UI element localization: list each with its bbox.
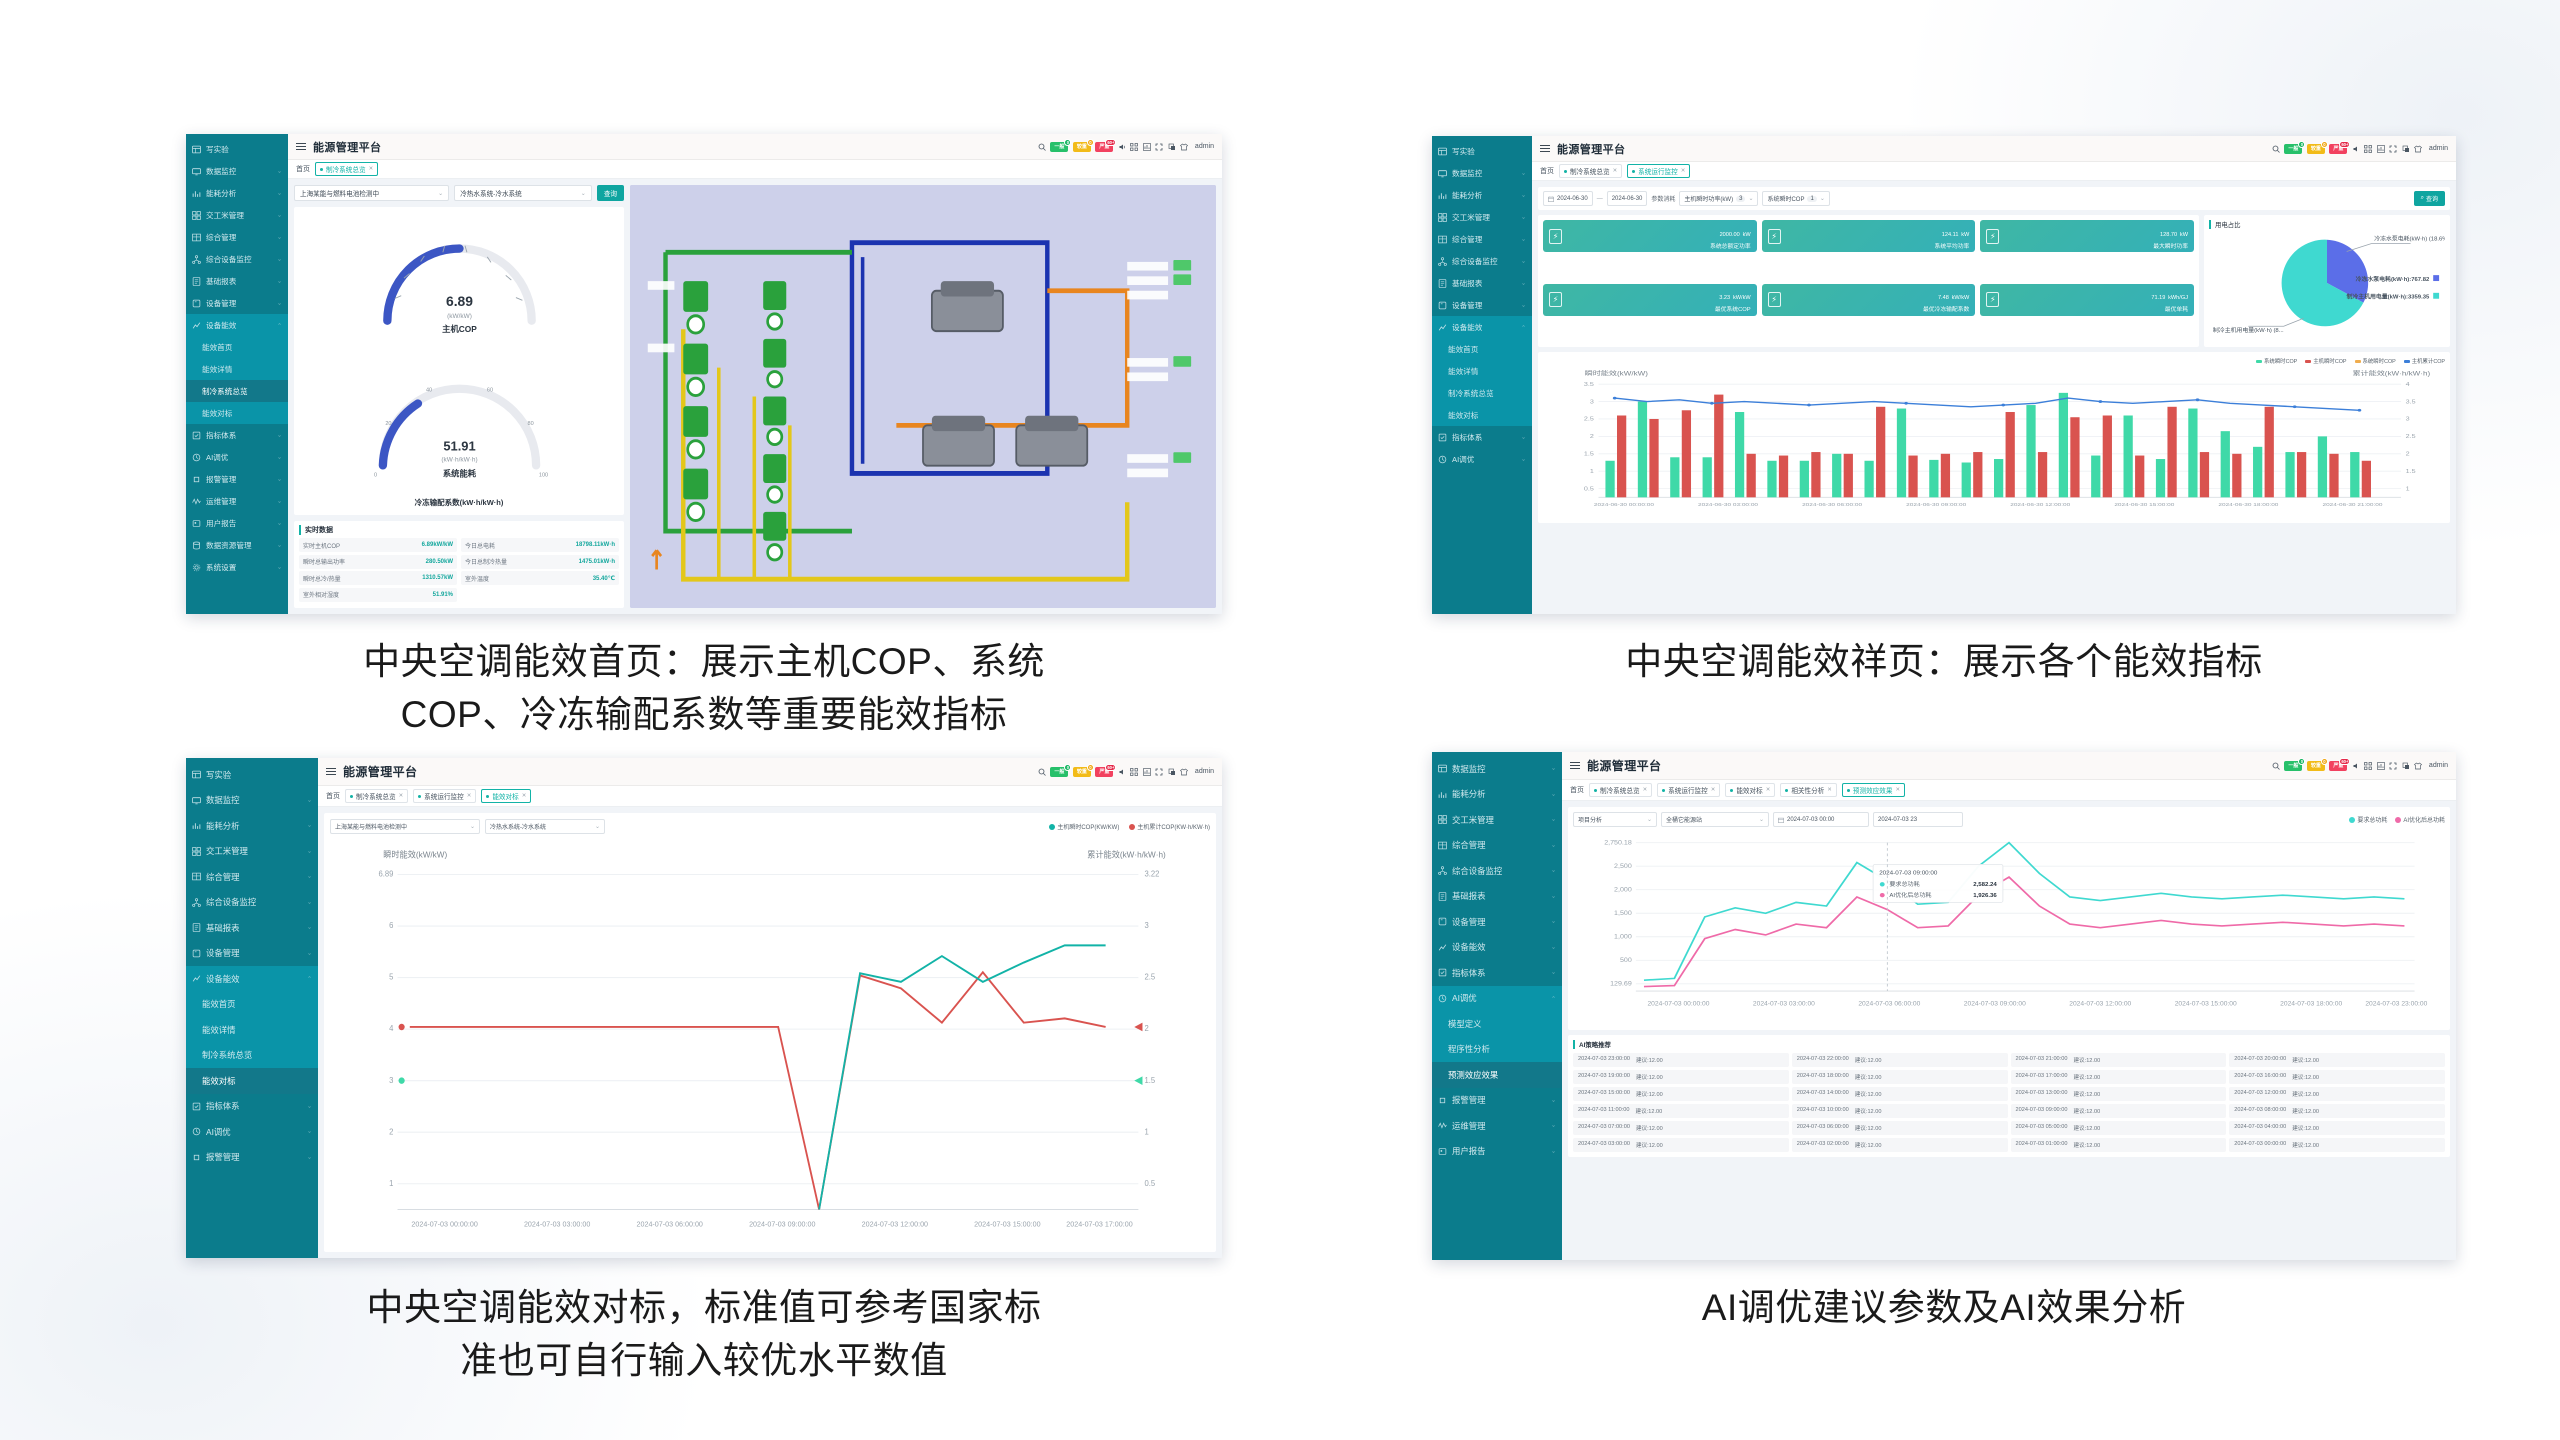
- legend-item[interactable]: 主机瞬时COP(KW/KW): [1049, 822, 1119, 831]
- date-to-input[interactable]: 2024-06-30: [1607, 191, 1648, 206]
- sidebar-item-data-resource[interactable]: 数据资源管理 ⌄: [186, 534, 288, 556]
- screenshot-panel-1: 写实验 数据监控 ⌄ 能耗分析 ⌄ 交工米管理 ⌄ 综合管理 ⌄: [186, 134, 1222, 614]
- list-item[interactable]: 2024-07-03 20:00:00建议:12.00: [2229, 1053, 2445, 1067]
- badge-medium[interactable]: 较重0: [1073, 142, 1091, 152]
- date-to-value: 2024-07-03 23: [1878, 817, 1917, 823]
- tab-benchmark[interactable]: 能效对标✕: [1725, 783, 1775, 797]
- calendar-icon: [1778, 817, 1784, 823]
- close-icon[interactable]: ✕: [1895, 787, 1900, 793]
- query-button[interactable]: ⌕查询: [2414, 191, 2445, 206]
- legend-item[interactable]: 主机累计COP: [2404, 357, 2445, 365]
- grid-icon[interactable]: [2364, 762, 2372, 770]
- list-item[interactable]: 2024-07-03 23:00:00建议:12.00: [1573, 1053, 1789, 1067]
- grid-icon[interactable]: [2364, 145, 2372, 153]
- data-cell: 今日总电耗18798.11kW·h: [461, 538, 619, 552]
- sidebar-item-comprehensive[interactable]: 综合管理⌄: [186, 864, 318, 890]
- chevron-down-icon: ⌄: [1551, 1149, 1556, 1154]
- kpi-grid-panel-2: ⚡2000.00 kW系统总额定功率 ⚡124.11 kW系统平均功率 ⚡128…: [1538, 215, 2199, 347]
- sidebar-item-device-energy[interactable]: 设备能效⌃: [186, 966, 318, 992]
- sidebar-item-label: 运维管理: [206, 496, 272, 507]
- cell-suggest: 建议:12.00: [2073, 1141, 2100, 1149]
- sidebar-item-comprehensive[interactable]: 综合管理⌄: [1432, 228, 1532, 250]
- badge-severe[interactable]: 严重60+: [2329, 144, 2347, 154]
- tab-label: 制冷系统总览: [356, 791, 396, 801]
- schematic-svg: [630, 185, 1216, 608]
- search-icon[interactable]: [1038, 143, 1046, 151]
- legend-item[interactable]: 主机累计COP(KW·h/KW·h): [1129, 822, 1210, 831]
- date-from-input[interactable]: 2024-06-30: [1543, 191, 1593, 206]
- y-axis-labels: 2,750.182,5002,000 1,5001,000500129.69: [1604, 840, 1632, 988]
- chevron-down-icon: ⌄: [1521, 215, 1526, 220]
- list-item[interactable]: 2024-07-03 13:00:00建议:12.00: [2011, 1087, 2227, 1101]
- kpi-card: ⚡124.11 kW系统平均功率: [1762, 220, 1976, 252]
- energy-icon: [1438, 943, 1447, 952]
- chevron-down-icon: ⌄: [1521, 281, 1526, 286]
- bar-chart-svg: 瞬时能效(kW/kW) 累计能效(kW·h/kW·h) 3.532.5 21.5…: [1543, 365, 2445, 513]
- list-item[interactable]: 2024-07-03 19:00:00建议:12.00: [1573, 1070, 1789, 1084]
- badge-count: 0: [2298, 758, 2305, 765]
- close-icon[interactable]: ✕: [467, 793, 472, 799]
- breadcrumb-home[interactable]: 首页: [296, 164, 310, 174]
- x-axis-labels: 2024-06-30 00:00:00 2024-06-30 03:00:00 …: [1594, 503, 2383, 508]
- svg-text:3: 3: [1145, 921, 1150, 930]
- sidebar-subitem-energy-detail[interactable]: 能效详情: [186, 1017, 318, 1043]
- user-name[interactable]: admin: [1195, 768, 1214, 775]
- chart-icon[interactable]: [2377, 762, 2385, 770]
- sound-icon[interactable]: [2352, 762, 2360, 770]
- kpi-value: 7.48 kW/kW: [1938, 291, 1969, 302]
- legend-item[interactable]: AI优化后总功耗: [2395, 815, 2445, 824]
- wave-icon: [1438, 1121, 1447, 1130]
- badge-normal[interactable]: 一般0: [2284, 761, 2302, 771]
- sidebar-subitem-program-analysis[interactable]: 程序性分析: [1432, 1037, 1562, 1063]
- sidebar-item-user-report[interactable]: 用户报告⌄: [1432, 1139, 1562, 1165]
- sidebar-item-alarm[interactable]: 报警管理 ⌄: [186, 468, 288, 490]
- sidebar-item-indicator[interactable]: 指标体系⌄: [1432, 426, 1532, 448]
- cell-time: 2024-07-03 09:00:00: [2016, 1107, 2068, 1115]
- cell-suggest: 建议:12.00: [2073, 1056, 2100, 1064]
- slide-root: 写实验 数据监控 ⌄ 能耗分析 ⌄ 交工米管理 ⌄ 综合管理 ⌄: [0, 0, 2560, 1440]
- menu-toggle-icon[interactable]: [1540, 145, 1550, 153]
- sidebar-item-energy-analysis[interactable]: 能耗分析⌄: [186, 813, 318, 839]
- list-item[interactable]: 2024-07-03 04:00:00建议:12.00: [2229, 1121, 2445, 1135]
- sidebar-subitem-energy-home[interactable]: 能效首页: [186, 336, 288, 358]
- search-icon[interactable]: [2272, 145, 2280, 153]
- sidebar-item-label: 数据监控: [1452, 763, 1546, 775]
- caption-panel-4: AI调优建议参数及AI效果分析: [1432, 1282, 2456, 1335]
- sidebar-item-label: 设备能效: [206, 320, 272, 331]
- sidebar-subitem-label: 能效详情: [1448, 366, 1526, 377]
- sidebar-item-indicator[interactable]: 指标体系 ⌄: [186, 424, 288, 446]
- badge-count: 0: [2321, 141, 2328, 148]
- svg-text:1,500: 1,500: [1614, 910, 1632, 917]
- theme-icon[interactable]: [2414, 762, 2422, 770]
- metric-select-1[interactable]: 主机瞬时功率(kW)3⌄: [1679, 191, 1758, 206]
- sidebar-item-ai-tuning[interactable]: AI调优 ⌄: [186, 446, 288, 468]
- list-item[interactable]: 2024-07-03 05:00:00建议:12.00: [2011, 1121, 2227, 1135]
- theme-icon[interactable]: [1180, 768, 1188, 776]
- cell-suggest: 建议:12.00: [1636, 1107, 1663, 1115]
- sidebar-item-label: 写实验: [206, 144, 282, 155]
- energy-icon: ⚡: [1549, 229, 1562, 244]
- energy-icon: ⚡: [1549, 292, 1562, 307]
- sidebar-subitem-model-definition[interactable]: 模型定义: [1432, 1011, 1562, 1037]
- chevron-down-icon: ⌄: [1551, 894, 1556, 899]
- chevron-down-icon: ⌄: [307, 1155, 312, 1160]
- bar-chart-icon: [1438, 790, 1447, 799]
- svg-text:1.5: 1.5: [1145, 1076, 1156, 1085]
- sidebar-item-device-energy[interactable]: 设备能效⌄: [1432, 935, 1562, 961]
- badge-normal[interactable]: 一般0: [1050, 142, 1068, 152]
- badge-count: 60+: [1105, 764, 1116, 771]
- sidebar-item-device-energy[interactable]: 设备能效⌃: [1432, 316, 1532, 338]
- sidebar-item-device-monitor[interactable]: 综合设备监控⌄: [1432, 858, 1562, 884]
- legend-item[interactable]: 系统瞬时COP: [2355, 357, 2396, 365]
- tab-correlation[interactable]: 相关性分析✕: [1780, 783, 1837, 797]
- copy-icon[interactable]: [2402, 762, 2410, 770]
- sidebar-item-device-energy[interactable]: 设备能效 ⌃: [186, 314, 288, 336]
- date-to-input[interactable]: 2024-07-03 23: [1873, 812, 1963, 827]
- list-item[interactable]: 2024-07-03 14:00:00建议:12.00: [1792, 1087, 2008, 1101]
- sidebar-item-label: 能耗分析: [1452, 190, 1516, 201]
- theme-icon[interactable]: [2414, 145, 2422, 153]
- chart-icon[interactable]: [1143, 768, 1151, 776]
- sidebar-item-settings[interactable]: 系统设置 ⌄: [186, 556, 288, 578]
- svg-text:2024-07-03 12:00:00: 2024-07-03 12:00:00: [862, 1220, 928, 1229]
- breadcrumb-home[interactable]: 首页: [1540, 166, 1554, 176]
- chart-icon[interactable]: [2377, 145, 2385, 153]
- sidebar-item-reports[interactable]: 基础报表 ⌄: [186, 270, 288, 292]
- x-axis-labels: 2024-07-03 00:00:00 2024-07-03 03:00:00 …: [411, 1220, 1132, 1229]
- sidebar-subitem-energy-home[interactable]: 能效首页: [186, 992, 318, 1018]
- sidebar-item-label: 综合管理: [206, 232, 272, 243]
- sidebar-item-device-manage[interactable]: 设备管理⌄: [1432, 909, 1562, 935]
- site-select[interactable]: 上海某能与燃料电池检测中⌄: [330, 819, 480, 834]
- grid-icon[interactable]: [1130, 143, 1138, 151]
- sidebar-subitem-prediction-effect[interactable]: 预测效应效果: [1432, 1062, 1562, 1088]
- sidebar-item-energy-analysis[interactable]: 能耗分析⌄: [1432, 782, 1562, 808]
- content-panel-2: 2024-06-30 — 2024-06-30 参数消耗 主机瞬时功率(kW)3…: [1532, 181, 2456, 614]
- chevron-down-icon: ⌄: [1551, 919, 1556, 924]
- app-title: 能源管理平台: [343, 763, 417, 780]
- close-icon[interactable]: ✕: [1681, 168, 1686, 174]
- search-icon[interactable]: [1038, 768, 1046, 776]
- svg-text:2024-06-30 12:00:00: 2024-06-30 12:00:00: [2010, 503, 2070, 508]
- cell-time: 2024-07-03 22:00:00: [1797, 1056, 1849, 1064]
- table-icon: [1438, 235, 1447, 244]
- kpi-card: ⚡3.23 kW/kW最优系统COP: [1543, 284, 1757, 316]
- menu-toggle-icon[interactable]: [296, 143, 306, 151]
- cell-suggest: 建议:12.00: [1855, 1124, 1882, 1132]
- chevron-down-icon: ⌄: [277, 433, 282, 438]
- sidebar-item-alarm[interactable]: 报警管理⌄: [186, 1145, 318, 1171]
- sidebar-item-label: 交工米管理: [1452, 212, 1516, 223]
- check-icon: [192, 431, 201, 440]
- list-item[interactable]: 2024-07-03 06:00:00建议:12.00: [1792, 1121, 2008, 1135]
- grid-icon[interactable]: [1130, 768, 1138, 776]
- legend-item[interactable]: 要求总功耗: [2349, 815, 2387, 824]
- sound-icon[interactable]: [1118, 143, 1126, 151]
- cell-time: 2024-07-03 14:00:00: [1797, 1090, 1849, 1098]
- table-row: 室外相对湿度51.91%: [299, 588, 619, 602]
- breadcrumb-home[interactable]: 首页: [1570, 785, 1584, 795]
- sidebar-item-dashboard[interactable]: 数据监控⌄: [1432, 756, 1562, 782]
- sidebar-item-indicator[interactable]: 指标体系⌄: [186, 1094, 318, 1120]
- sidebar-subitem-energy-detail[interactable]: 能效详情: [1432, 360, 1532, 382]
- system-select[interactable]: 冷热水系统-冷水系统⌄: [454, 185, 592, 201]
- sidebar-item-monitor[interactable]: 数据监控⌄: [186, 788, 318, 814]
- list-item[interactable]: 2024-07-03 03:00:00建议:12.00: [1573, 1138, 1789, 1152]
- fullscreen-icon[interactable]: [2389, 145, 2397, 153]
- chevron-down-icon: ⌄: [1551, 792, 1556, 797]
- sidebar-subitem-cooling-overview[interactable]: 制冷系统总览: [1432, 382, 1532, 404]
- list-item[interactable]: 2024-07-03 08:00:00建议:12.00: [2229, 1104, 2445, 1118]
- chart-icon[interactable]: [1143, 143, 1151, 151]
- tab-prediction-effect[interactable]: 预测效应效果✕: [1842, 783, 1905, 797]
- metric-select-2[interactable]: 系统瞬时COP1⌄: [1762, 191, 1829, 206]
- sidebar-subitem-energy-home[interactable]: 能效首页: [1432, 338, 1532, 360]
- sidebar-subitem-benchmark[interactable]: 能效对标: [186, 1068, 318, 1094]
- fullscreen-icon[interactable]: [2389, 762, 2397, 770]
- close-icon[interactable]: ✕: [399, 793, 404, 799]
- sidebar-subitem-cooling-overview[interactable]: 制冷系统总览: [186, 380, 288, 402]
- sidebar-item-ai-tuning[interactable]: AI调优⌄: [186, 1119, 318, 1145]
- chevron-down-icon: ⌄: [277, 543, 282, 548]
- legend-item[interactable]: 主机瞬时COP: [2305, 357, 2346, 365]
- kpi-value: 3.23 kW/kW: [1719, 291, 1750, 302]
- badge-normal[interactable]: 一般0: [2284, 144, 2302, 154]
- chevron-down-icon: ⌄: [1551, 945, 1556, 950]
- sidebar-item-monitor[interactable]: 数据监控⌄: [1432, 162, 1532, 184]
- list-item[interactable]: 2024-07-03 00:00:00建议:12.00: [2229, 1138, 2445, 1152]
- list-item[interactable]: 2024-07-03 17:00:00建议:12.00: [2011, 1070, 2227, 1084]
- sidebar-item-label: 数据资源管理: [206, 540, 272, 551]
- pie-title: 用电占比: [2209, 220, 2445, 229]
- series-ai-optimized-power: [1644, 877, 2404, 986]
- user-name[interactable]: admin: [2429, 762, 2448, 769]
- data-value: 1310.57kW: [422, 575, 453, 581]
- chart-legend-panel-3: 主机瞬时COP(KW/KW) 主机累计COP(KW·h/KW·h): [1049, 822, 1210, 831]
- sidebar-item-energy-analysis[interactable]: 能耗分析⌄: [1432, 184, 1532, 206]
- ai-table-title: AI策略推荐: [1573, 1040, 2445, 1049]
- sidebar-item-energy-analysis[interactable]: 能耗分析 ⌄: [186, 182, 288, 204]
- date-to-value: 2024-06-30: [1612, 196, 1643, 202]
- sidebar-subitem-cooling-overview[interactable]: 制冷系统总览: [186, 1043, 318, 1069]
- close-icon[interactable]: ✕: [1711, 787, 1716, 793]
- sidebar-item-reports[interactable]: 基础报表⌄: [1432, 884, 1562, 910]
- sidebar-item-device-monitor[interactable]: 综合设备监控⌄: [186, 890, 318, 916]
- date-from-value: 2024-07-03 00:00: [1787, 817, 1834, 823]
- sidebar-item-dashboard[interactable]: 写实验: [186, 762, 318, 788]
- svg-text:20: 20: [385, 421, 391, 427]
- site-select[interactable]: 上海某能与燃料电池检测中⌄: [294, 185, 449, 201]
- sidebar-item-label: 设备能效: [1452, 322, 1516, 333]
- station-select[interactable]: 全桶它能源站⌄: [1661, 812, 1769, 827]
- sidebar-item-device-manage[interactable]: 设备管理 ⌄: [186, 292, 288, 314]
- sidebar-item-label: 综合管理: [1452, 234, 1516, 245]
- sidebar-item-monitor[interactable]: 数据监控 ⌄: [186, 160, 288, 182]
- cell-suggest: 建议:12.00: [2292, 1141, 2319, 1149]
- fullscreen-icon[interactable]: [1155, 143, 1163, 151]
- tab-cooling-overview[interactable]: 制冷系统总览✕: [315, 162, 378, 176]
- badge-medium[interactable]: 较重0: [2307, 761, 2325, 771]
- user-name[interactable]: admin: [1195, 143, 1214, 150]
- sidebar-item-label: 基础报表: [1452, 278, 1516, 289]
- sidebar-item-reports[interactable]: 基础报表⌄: [186, 915, 318, 941]
- copy-icon[interactable]: [1168, 768, 1176, 776]
- svg-text:2024-06-30 06:00:00: 2024-06-30 06:00:00: [1802, 503, 1862, 508]
- badge-count: 60+: [2339, 758, 2350, 765]
- copy-icon[interactable]: [2402, 145, 2410, 153]
- badge-severe[interactable]: 严重60+: [1095, 767, 1113, 777]
- badge-severe[interactable]: 严重60+: [2329, 761, 2347, 771]
- system-schematic-diagram: [630, 185, 1216, 608]
- sidebar-item-label: 报警管理: [206, 474, 272, 485]
- content-panel-1: 上海某能与燃料电池检测中⌄ 冷热水系统-冷水系统⌄ 查询: [288, 179, 1222, 614]
- sidebar-item-device-monitor[interactable]: 综合设备监控⌄: [1432, 250, 1532, 272]
- search-icon[interactable]: [2272, 762, 2280, 770]
- metric-select-2-value: 系统瞬时COP: [1767, 194, 1804, 203]
- user-name[interactable]: admin: [2429, 145, 2448, 152]
- caption-panel-1: 中央空调能效首页：展示主机COP、系统 COP、冷冻输配系数等重要能效指标: [186, 636, 1222, 741]
- sidebar-item-device-monitor[interactable]: 综合设备监控 ⌄: [186, 248, 288, 270]
- tab-system-monitor[interactable]: 系统运行监控✕: [1627, 164, 1690, 178]
- list-item[interactable]: 2024-07-03 07:00:00建议:12.00: [1573, 1121, 1789, 1135]
- list-item[interactable]: 2024-07-03 12:00:00建议:12.00: [2229, 1087, 2445, 1101]
- close-icon[interactable]: ✕: [1827, 787, 1832, 793]
- tab-benchmark[interactable]: 能效对标✕: [481, 789, 531, 803]
- sidebar-item-device-manage[interactable]: 设备管理⌄: [1432, 294, 1532, 316]
- sidebar-subitem-label: 预测效应效果: [1448, 1069, 1556, 1081]
- grid-icon: [1438, 213, 1447, 222]
- list-item[interactable]: 2024-07-03 22:00:00建议:12.00: [1792, 1053, 2008, 1067]
- sidebar-subitem-benchmark[interactable]: 能效对标: [186, 402, 288, 424]
- list-item[interactable]: 2024-07-03 18:00:00建议:12.00: [1792, 1070, 2008, 1084]
- gauge-footer-caption: 冷冻输配系数(kW·h/kW·h): [298, 495, 620, 511]
- sidebar-subitem-label: 制冷系统总览: [202, 1049, 312, 1061]
- sound-icon[interactable]: [2352, 145, 2360, 153]
- sidebar-subitem-energy-detail[interactable]: 能效详情: [186, 358, 288, 380]
- sidebar-item-label: AI调优: [1452, 992, 1546, 1004]
- list-item[interactable]: 2024-07-03 01:00:00建议:12.00: [2011, 1138, 2227, 1152]
- sidebar-item-label: 指标体系: [1452, 967, 1546, 979]
- analysis-select[interactable]: 项目分析⌄: [1573, 812, 1657, 827]
- sidebar-item-ops[interactable]: 运维管理 ⌄: [186, 490, 288, 512]
- sidebar-item-dashboard[interactable]: 写实验: [1432, 140, 1532, 162]
- energy-icon: ⚡: [1768, 292, 1781, 307]
- menu-toggle-icon[interactable]: [1570, 762, 1580, 770]
- list-item[interactable]: 2024-07-03 02:00:00建议:12.00: [1792, 1138, 2008, 1152]
- sidebar-item-meter[interactable]: 交工米管理⌄: [186, 839, 318, 865]
- badge-severe[interactable]: 严重60+: [1095, 142, 1113, 152]
- list-item[interactable]: 2024-07-03 16:00:00建议:12.00: [2229, 1070, 2445, 1084]
- query-button[interactable]: 查询: [597, 185, 624, 201]
- svg-text:2024-07-03 06:00:00: 2024-07-03 06:00:00: [637, 1220, 703, 1229]
- badge-count: 0: [1087, 764, 1094, 771]
- close-icon[interactable]: ✕: [369, 166, 374, 172]
- list-item[interactable]: 2024-07-03 10:00:00建议:12.00: [1792, 1104, 2008, 1118]
- sidebar-item-meter[interactable]: 交工米管理⌄: [1432, 807, 1562, 833]
- fullscreen-icon[interactable]: [1155, 768, 1163, 776]
- list-item[interactable]: 2024-07-03 21:00:00建议:12.00: [2011, 1053, 2227, 1067]
- sidebar-item-indicator[interactable]: 指标体系⌄: [1432, 960, 1562, 986]
- sidebar-item-comprehensive[interactable]: 综合管理 ⌄: [186, 226, 288, 248]
- sound-icon[interactable]: [1118, 768, 1126, 776]
- date-from-input[interactable]: 2024-07-03 00:00: [1773, 812, 1869, 827]
- sidebar-item-label: AI调优: [206, 1126, 302, 1138]
- legend-item[interactable]: 系统瞬时COP: [2256, 357, 2297, 365]
- close-icon[interactable]: ✕: [1766, 787, 1771, 793]
- sidebar-item-label: 交工米管理: [206, 210, 272, 221]
- svg-text:2024-07-03 09:00:00: 2024-07-03 09:00:00: [1964, 1001, 2027, 1008]
- sidebar-item-label: 指标体系: [206, 1100, 302, 1112]
- tab-cooling-overview[interactable]: 制冷系统总览✕: [1589, 783, 1652, 797]
- theme-icon[interactable]: [1180, 143, 1188, 151]
- sidebar-item-reports[interactable]: 基础报表⌄: [1432, 272, 1532, 294]
- svg-text:2: 2: [389, 1127, 393, 1136]
- list-item[interactable]: 2024-07-03 09:00:00建议:12.00: [2011, 1104, 2227, 1118]
- sidebar-item-meter[interactable]: 交工米管理 ⌄: [186, 204, 288, 226]
- benchmark-line-chart-svg: 瞬时能效(kW/kW) 累计能效(kW·h/kW·h) 6.8965 4321 …: [330, 838, 1210, 1246]
- close-icon[interactable]: ✕: [522, 793, 527, 799]
- tab-cooling-overview[interactable]: 制冷系统总览✕: [1559, 164, 1622, 178]
- system-select[interactable]: 冷热水系统-冷水系统⌄: [485, 819, 605, 834]
- breadcrumb-home[interactable]: 首页: [326, 791, 340, 801]
- series-required-power: [1644, 843, 2404, 981]
- sidebar-item-alarm[interactable]: 报警管理⌄: [1432, 1088, 1562, 1114]
- svg-text:2024-06-30 21:00:00: 2024-06-30 21:00:00: [2322, 503, 2382, 508]
- sidebar-item-ai-tuning[interactable]: AI调优⌄: [1432, 448, 1532, 470]
- list-item[interactable]: 2024-07-03 11:00:00建议:12.00: [1573, 1104, 1789, 1118]
- chevron-down-icon: ⌄: [277, 279, 282, 284]
- tab-system-monitor[interactable]: 系统运行监控✕: [413, 789, 476, 803]
- sidebar-item-comprehensive[interactable]: 综合管理⌄: [1432, 833, 1562, 859]
- cell-suggest: 建议:12.00: [2292, 1073, 2319, 1081]
- menu-toggle-icon[interactable]: [326, 768, 336, 776]
- sidebar-item-ops[interactable]: 运维管理⌄: [1432, 1113, 1562, 1139]
- badge-normal[interactable]: 一般0: [1050, 767, 1068, 777]
- tab-system-monitor[interactable]: 系统运行监控✕: [1657, 783, 1720, 797]
- sidebar-subitem-benchmark[interactable]: 能效对标: [1432, 404, 1532, 426]
- tools-icon: [192, 949, 201, 958]
- tab-cooling-overview[interactable]: 制冷系统总览✕: [345, 789, 408, 803]
- badge-medium[interactable]: 较重0: [1073, 767, 1091, 777]
- svg-text:累计能效(kW·h/kW·h): 累计能效(kW·h/kW·h): [2352, 369, 2430, 377]
- sidebar-item-ai-tuning[interactable]: AI调优⌃: [1432, 986, 1562, 1012]
- search-icon: ⌕: [2421, 195, 2424, 202]
- chevron-down-icon: ⌄: [1521, 303, 1526, 308]
- sidebar-item-label: 设备能效: [206, 973, 302, 985]
- kpi-value: 2000.00 kW: [1720, 228, 1751, 239]
- copy-icon[interactable]: [1168, 143, 1176, 151]
- sidebar-item-device-manage[interactable]: 设备管理⌄: [186, 941, 318, 967]
- sidebar-panel-1: 写实验 数据监控 ⌄ 能耗分析 ⌄ 交工米管理 ⌄ 综合管理 ⌄: [186, 134, 288, 614]
- cell-suggest: 建议:12.00: [2073, 1124, 2100, 1132]
- svg-text:3: 3: [2406, 416, 2411, 422]
- tab-label: 能效对标: [492, 791, 518, 801]
- sidebar-item-label: 基础报表: [206, 922, 302, 934]
- sidebar-item-user-report[interactable]: 用户报告 ⌄: [186, 512, 288, 534]
- sidebar-item-meter[interactable]: 交工米管理⌄: [1432, 206, 1532, 228]
- close-icon[interactable]: ✕: [1613, 168, 1618, 174]
- dashboard-icon: [1438, 764, 1447, 773]
- close-icon[interactable]: ✕: [1643, 787, 1648, 793]
- sidebar-item-dashboard[interactable]: 写实验: [186, 138, 288, 160]
- list-item[interactable]: 2024-07-03 15:00:00建议:12.00: [1573, 1087, 1789, 1101]
- badge-medium[interactable]: 较重0: [2307, 144, 2325, 154]
- svg-text:3.5: 3.5: [2406, 399, 2416, 405]
- sidebar-subitem-label: 程序性分析: [1448, 1043, 1556, 1055]
